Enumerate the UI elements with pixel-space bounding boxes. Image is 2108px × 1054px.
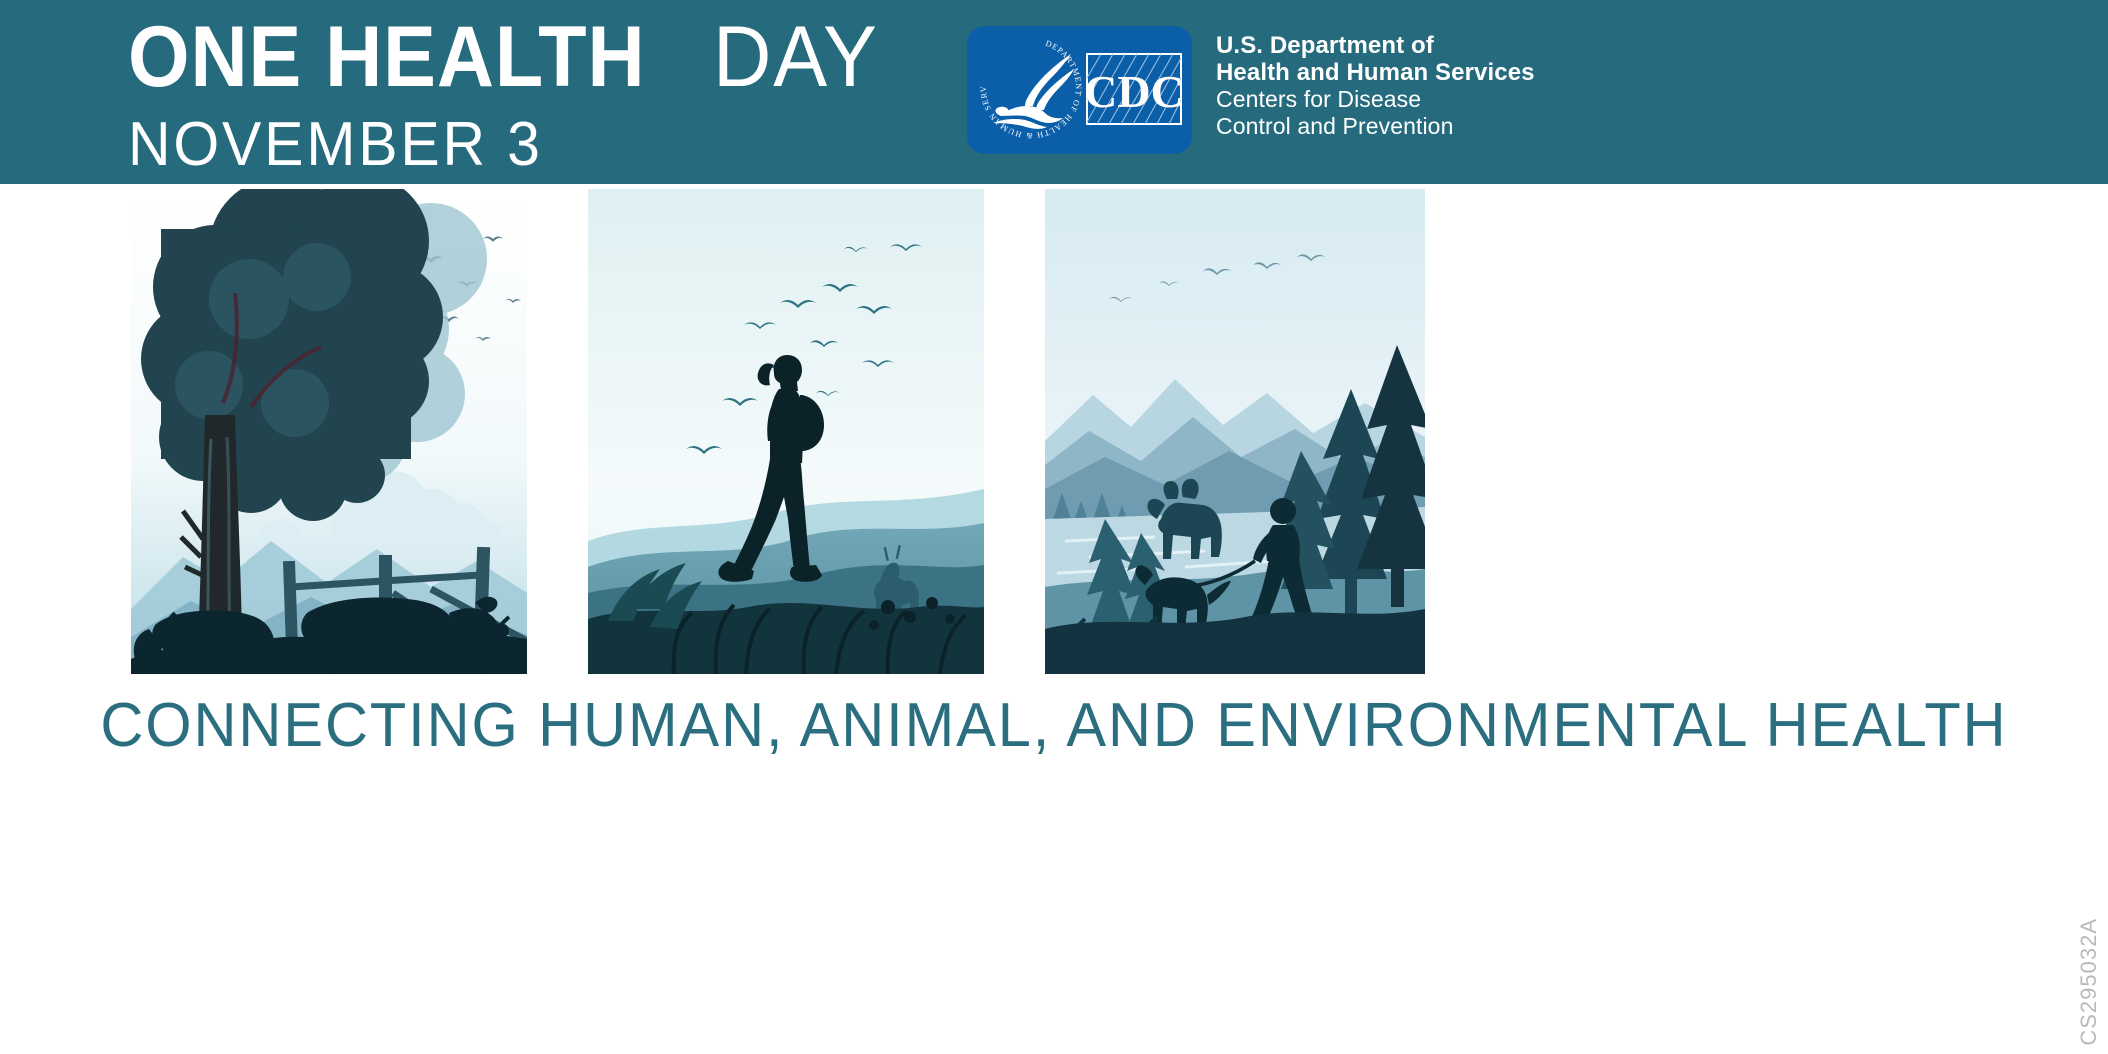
cdc-logo-card: DEPARTMENT OF HEALTH & HUMAN SERVICES · …: [967, 26, 1192, 154]
title-block: ONE HEALTH DAY NOVEMBER 3: [128, 14, 889, 176]
panel-hiker-wildlife-scene: [588, 189, 984, 674]
agency-line-2: Health and Human Services: [1216, 59, 1535, 86]
one-health-day-poster: ONE HEALTH DAY NOVEMBER 3 DEPARTMENT OF …: [0, 0, 2108, 1054]
publication-code: CS295032A: [2076, 918, 2102, 1046]
agency-line-1: U.S. Department of: [1216, 32, 1535, 59]
poster-subtitle: NOVEMBER 3: [128, 114, 851, 176]
agency-name-block: U.S. Department of Health and Human Serv…: [1216, 26, 1535, 140]
title-row: ONE HEALTH DAY: [128, 14, 889, 100]
hhs-seal-icon: DEPARTMENT OF HEALTH & HUMAN SERVICES · …: [975, 32, 1087, 144]
agency-line-4: Control and Prevention: [1216, 113, 1535, 140]
panel-farm-cattle-scene: [131, 189, 527, 674]
poster-title-bold: ONE HEALTH: [128, 14, 646, 100]
caption-text: CONNECTING HUMAN, ANIMAL, AND ENVIRONMEN…: [100, 690, 2007, 761]
poster-caption: CONNECTING HUMAN, ANIMAL, AND ENVIRONMEN…: [42, 690, 2066, 761]
cdc-wordmark-icon: CDC: [1085, 52, 1183, 126]
illustration-panel-row: [0, 184, 2108, 674]
poster-header: ONE HEALTH DAY NOVEMBER 3 DEPARTMENT OF …: [0, 0, 2108, 184]
poster-title-light: DAY: [713, 14, 879, 100]
cdc-logo-lockup: DEPARTMENT OF HEALTH & HUMAN SERVICES · …: [967, 26, 1535, 154]
svg-text:CDC: CDC: [1085, 66, 1183, 117]
agency-line-3: Centers for Disease: [1216, 86, 1535, 113]
panel-dog-walker-forest-scene: [1045, 189, 1425, 674]
